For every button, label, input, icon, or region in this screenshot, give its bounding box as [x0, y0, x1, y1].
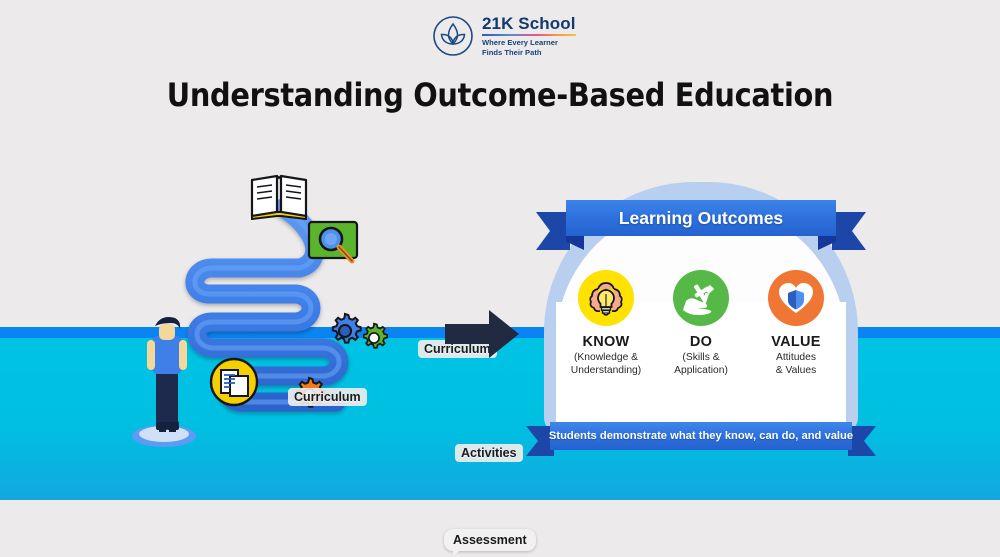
outcome-value-title: VALUE [771, 334, 821, 350]
learning-outcomes-ribbon: Learning Outcomes [536, 198, 866, 250]
label-assessment: Assessment [444, 529, 536, 551]
hand-tools-icon [673, 270, 729, 326]
ribbon-body: Learning Outcomes [566, 200, 836, 236]
brand-tagline-line1: Where Every Learner [482, 38, 576, 47]
outcome-do-title: DO [690, 334, 712, 350]
label-activities: Activities [455, 444, 523, 462]
ribbon-tail-right [832, 212, 866, 250]
gear-green-icon [358, 322, 390, 354]
magnifier-card-icon [306, 218, 364, 270]
label-curriculum-1: Curriculum [288, 388, 367, 406]
brand-logo: 21K School Where Every Learner Finds The… [432, 12, 592, 60]
outcome-know-sub-line2: Understanding) [571, 365, 641, 378]
brand-text-block: 21K School Where Every Learner Finds The… [482, 15, 576, 58]
learning-outcomes-panel: Learning Outcomes KNOW [536, 182, 866, 450]
outcome-do: DO (Skills & Application) [655, 270, 747, 378]
ribbon-title-text: Learning Outcomes [619, 208, 783, 229]
student-figure-icon [128, 308, 200, 448]
lotus-circle-icon [432, 15, 474, 57]
page-title: Understanding Outcome-Based Education [0, 76, 1000, 114]
outcome-know-title: KNOW [582, 334, 629, 350]
open-book-icon [248, 170, 310, 220]
outcome-do-sub-line1: (Skills & [674, 352, 728, 365]
outcome-value-subtitle: Attitudes & Values [776, 352, 816, 378]
outcome-know-subtitle: (Knowledge & Understanding) [571, 352, 641, 378]
outcome-value: VALUE Attitudes & Values [750, 270, 842, 378]
outcome-value-sub-line1: Attitudes [776, 352, 816, 365]
panel-footer-ribbon: Students demonstrate what they know, can… [526, 422, 876, 456]
documents-icon [208, 356, 260, 408]
outcome-know: KNOW (Knowledge & Understanding) [560, 270, 652, 378]
brand-tagline-line2: Finds Their Path [482, 48, 576, 57]
outcome-do-sub-line2: Application) [674, 365, 728, 378]
outcome-value-sub-line2: & Values [776, 365, 816, 378]
brain-bulb-icon [578, 270, 634, 326]
brand-name: 21K School [482, 15, 576, 33]
outcome-know-sub-line1: (Knowledge & [571, 352, 641, 365]
heart-shield-icon [768, 270, 824, 326]
footer-ribbon-text: Students demonstrate what they know, can… [549, 430, 853, 442]
footer-ribbon-body: Students demonstrate what they know, can… [550, 422, 852, 450]
ribbon-tail-left [536, 212, 570, 250]
brand-gradient-rule [482, 34, 576, 37]
right-arrow-icon [443, 304, 521, 364]
outcomes-row: KNOW (Knowledge & Understanding) DO (Ski… [560, 270, 842, 378]
outcome-do-subtitle: (Skills & Application) [674, 352, 728, 378]
